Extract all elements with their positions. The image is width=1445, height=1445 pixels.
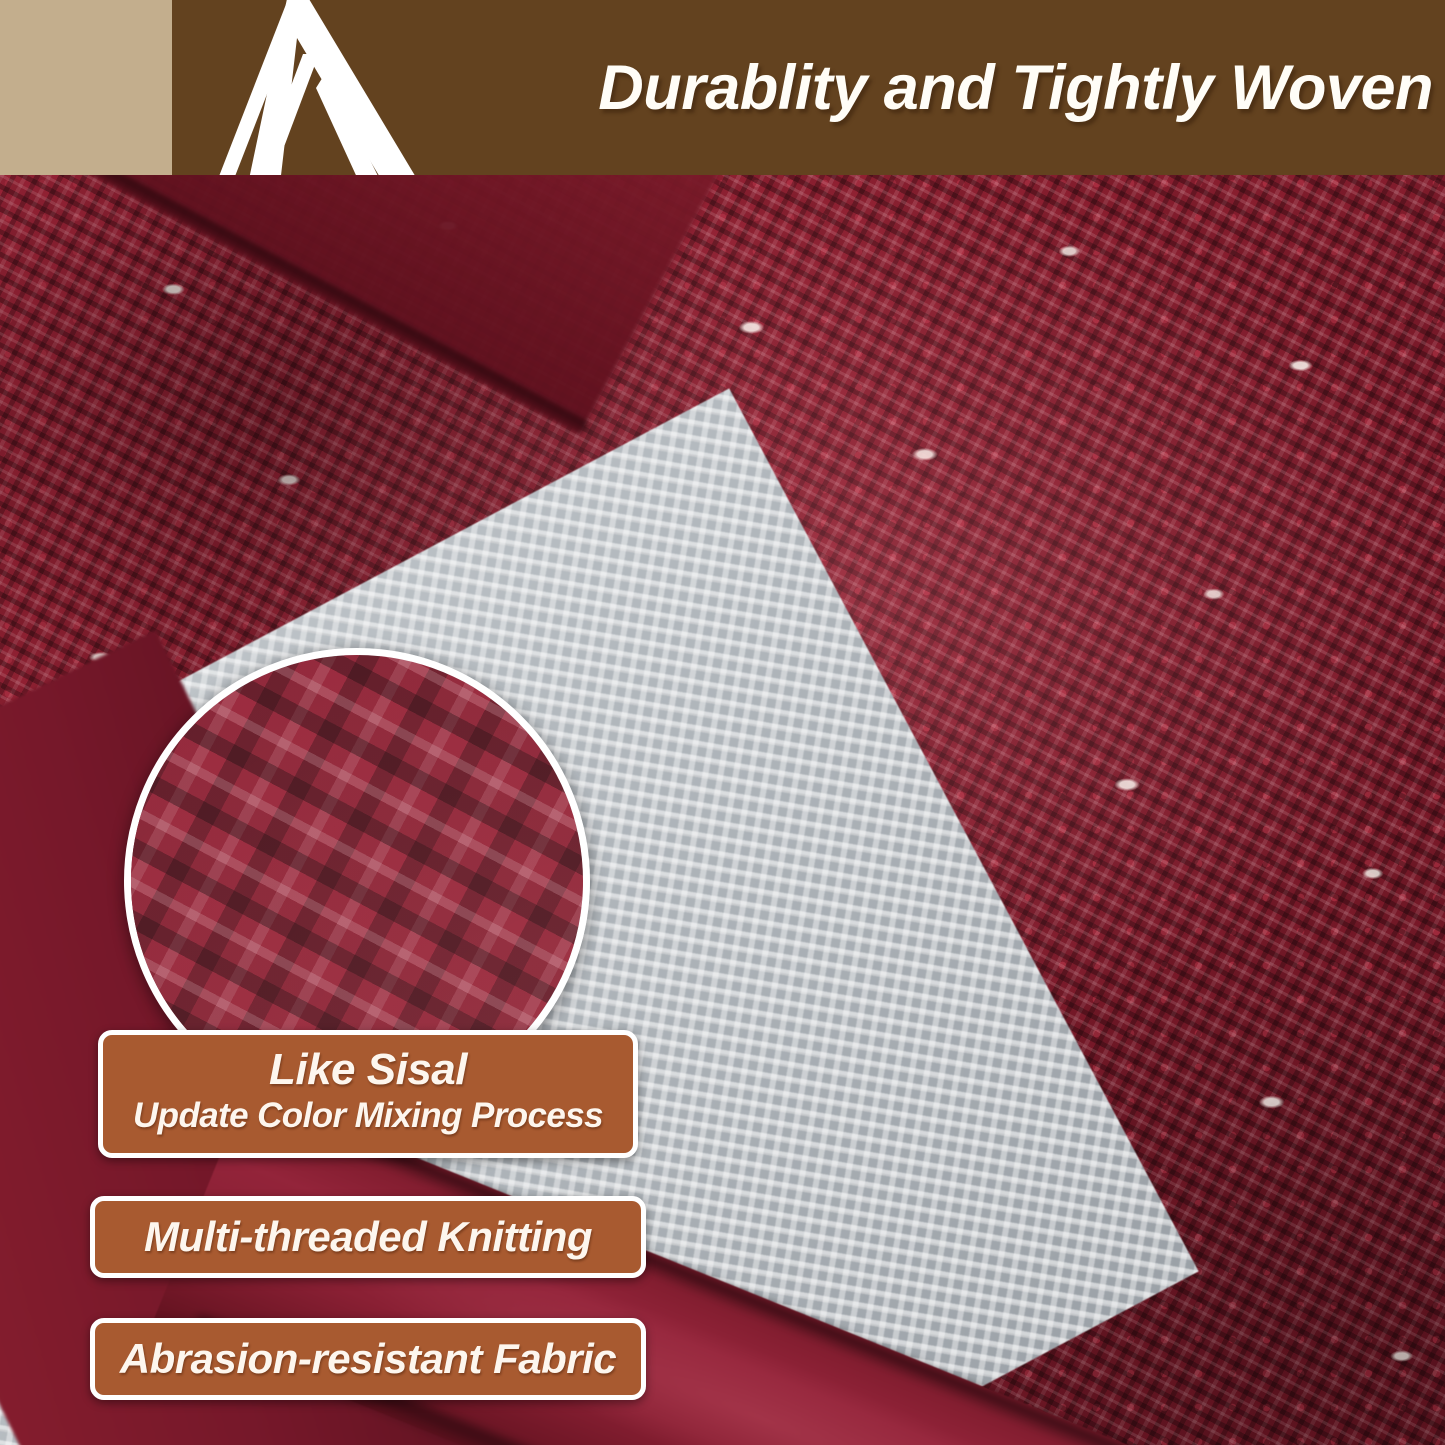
feature-badge-title: Multi-threaded Knitting xyxy=(144,1213,592,1261)
feature-badge-abrasion-resistant-fabric: Abrasion-resistant Fabric xyxy=(90,1318,646,1400)
feature-badge-title: Like Sisal xyxy=(269,1048,467,1092)
mountain-m-logo-icon xyxy=(120,0,450,175)
product-infographic: Durablity and Tightly Woven Like Sisal U… xyxy=(0,0,1445,1445)
page-title: Durablity and Tightly Woven xyxy=(430,0,1433,175)
feature-badge-multi-threaded-knitting: Multi-threaded Knitting xyxy=(90,1196,646,1278)
feature-badge-title: Abrasion-resistant Fabric xyxy=(120,1335,616,1383)
feature-badge-subtitle: Update Color Mixing Process xyxy=(133,1096,603,1135)
feature-badge-like-sisal: Like Sisal Update Color Mixing Process xyxy=(98,1030,638,1158)
header-banner: Durablity and Tightly Woven xyxy=(0,0,1445,175)
